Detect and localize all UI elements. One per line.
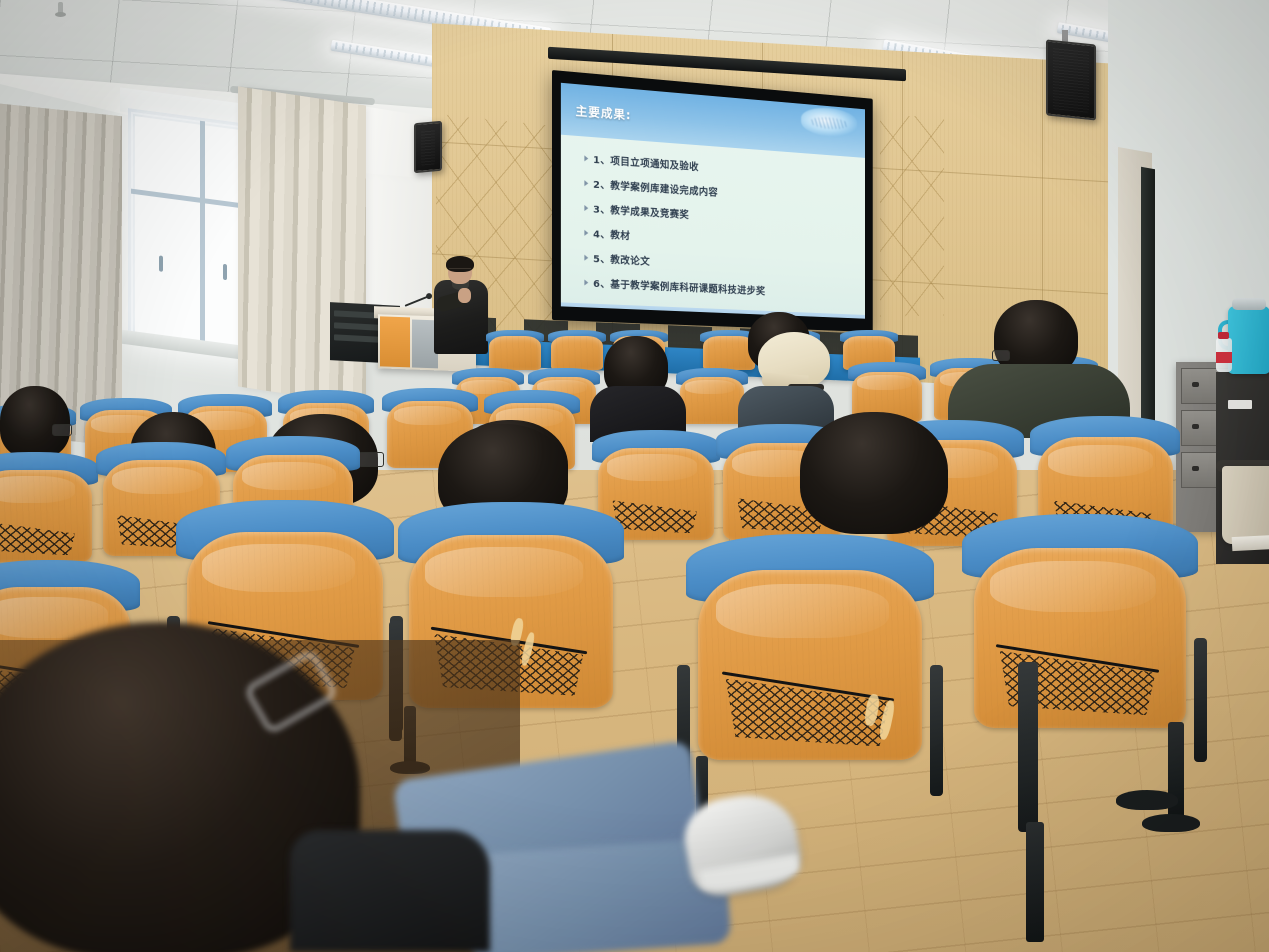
slide-item-text: 6、基于教学案例库科研课题科技进步奖: [593, 275, 765, 298]
seat-sheen: [0, 476, 75, 502]
seat-sheen: [857, 375, 912, 389]
seat-sheen: [394, 406, 461, 425]
seat-sheen: [685, 380, 735, 393]
slide-item-text: 5、教改论文: [593, 250, 650, 268]
slide-item-text: 1、项目立项通知及验收: [593, 151, 699, 173]
eyeglasses-icon: [52, 424, 72, 436]
sprinkler-head: [58, 2, 63, 14]
projection-screen: 主要成果: 1、项目立项通知及验收 2、教学案例库建设完成内容 3、教学成果及竞…: [552, 70, 873, 332]
book-on-floor: [1232, 535, 1269, 551]
water-thermos[interactable]: [1228, 306, 1269, 374]
person-head: [0, 386, 70, 458]
cabinet-label: [1228, 400, 1252, 409]
seat-leg: [1026, 822, 1044, 942]
audience-member: [0, 386, 70, 458]
seat-sheen: [242, 462, 336, 490]
seat-sheen: [1048, 445, 1153, 477]
auditorium-seat[interactable]: [0, 452, 98, 562]
drawer-handle[interactable]: [1192, 466, 1199, 471]
window-mullion: [200, 121, 205, 348]
slide-item-text: 2、教学案例库建设完成内容: [593, 176, 718, 199]
seat-back: [551, 336, 603, 370]
slide-title: 主要成果:: [576, 101, 632, 122]
audience-member: [800, 412, 948, 534]
seat-foot: [1116, 790, 1178, 810]
drawer-handle[interactable]: [1192, 382, 1199, 387]
presenter: [432, 258, 492, 354]
eyeglasses-icon: [358, 452, 384, 467]
bottle-cap[interactable]: [1218, 332, 1229, 339]
auditorium-seat[interactable]: [548, 330, 606, 370]
slide-bullet-item: 6、基于教学案例库科研课题科技进步奖: [584, 275, 856, 302]
foreground-student-shoulder: [290, 830, 490, 952]
eyeglasses-icon: [992, 350, 1010, 361]
presentation-slide: 主要成果: 1、项目立项通知及验收 2、教学案例库建设完成内容 3、教学成果及竞…: [561, 83, 865, 319]
slide-bullet-item: 5、教改论文: [584, 250, 856, 278]
seat-armrest[interactable]: [1194, 638, 1207, 762]
seat-armrest[interactable]: [930, 665, 943, 796]
bullet-arrow-icon: [584, 155, 588, 161]
thermos-lid[interactable]: [1232, 298, 1266, 310]
seat-sheen: [112, 467, 203, 494]
slide-bullet-item: 4、教材: [584, 225, 856, 255]
auditorium-seat[interactable]: [486, 330, 544, 370]
lecture-hall-photo: 主要成果: 1、项目立项通知及验收 2、教学案例库建设完成内容 3、教学成果及竞…: [0, 0, 1269, 952]
bullet-arrow-icon: [584, 180, 588, 186]
bullet-arrow-icon: [584, 205, 588, 211]
seat-sheen: [607, 454, 697, 480]
auditorium-seat[interactable]: [686, 534, 934, 760]
waste-basket: [1222, 466, 1269, 544]
slide-item-text: 3、教学成果及竞赛奖: [593, 201, 689, 222]
seat-sheen: [716, 584, 890, 638]
lattice-panel: [880, 115, 944, 316]
seat-sheen: [990, 561, 1155, 612]
seat-foot: [1142, 814, 1200, 832]
window-handle[interactable]: [223, 264, 227, 281]
bullet-arrow-icon: [584, 229, 588, 235]
drawer-handle[interactable]: [1192, 424, 1199, 429]
presenter-hand: [458, 288, 471, 303]
seat-sheen: [202, 544, 355, 592]
bullet-arrow-icon: [584, 254, 588, 260]
slide-item-text: 4、教材: [593, 225, 630, 242]
seat-back: [489, 336, 541, 370]
bottle-label: [1216, 352, 1232, 363]
auditorium-seat-armrest-unit[interactable]: [1008, 612, 1088, 832]
eyeglasses-icon: [449, 268, 471, 272]
institution-emblem-icon: [801, 106, 857, 139]
seat-sheen: [425, 547, 583, 596]
wall-speaker-right: [1046, 39, 1096, 120]
slide-body: 1、项目立项通知及验收 2、教学案例库建设完成内容 3、教学成果及竞赛奖 4、教…: [561, 135, 865, 315]
seat-armrest[interactable]: [1018, 662, 1038, 832]
person-head: [800, 412, 948, 534]
bullet-arrow-icon: [584, 279, 588, 285]
window-handle[interactable]: [159, 255, 163, 272]
wall-speaker-left: [414, 121, 442, 173]
